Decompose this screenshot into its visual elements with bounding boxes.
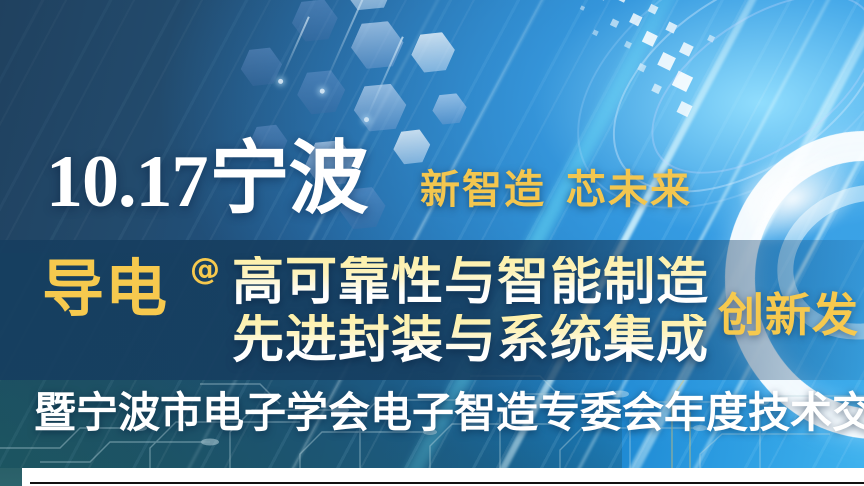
event-banner: 10.17宁波 新智造芯未来 导电 @ 高可靠性与智能制造 先进封装与系统集成 …	[0, 0, 864, 468]
event-date-city: 10.17宁波	[46, 140, 368, 220]
slogan-part-1: 新智造	[420, 167, 546, 213]
event-date: 10.17	[46, 141, 208, 223]
brand-name: 导电	[42, 258, 168, 320]
main-title-line-1: 高可靠性与智能制造	[232, 256, 709, 308]
main-title-line-2: 先进封装与系统集成	[232, 314, 709, 366]
event-subtitle: 暨宁波市电子学会电子智造专委会年度技术交	[34, 392, 864, 434]
screenshot-root: 10.17宁波 新智造芯未来 导电 @ 高可靠性与智能制造 先进封装与系统集成 …	[0, 0, 864, 486]
event-slogan: 新智造芯未来	[420, 170, 692, 210]
left-gutter-strip	[0, 468, 22, 486]
at-symbol-icon: @	[190, 252, 220, 287]
event-city: 宁波	[210, 136, 368, 224]
document-divider-rule	[30, 482, 864, 484]
right-edge-slogan: 创新发	[718, 292, 859, 338]
slogan-part-2: 芯未来	[566, 167, 692, 213]
